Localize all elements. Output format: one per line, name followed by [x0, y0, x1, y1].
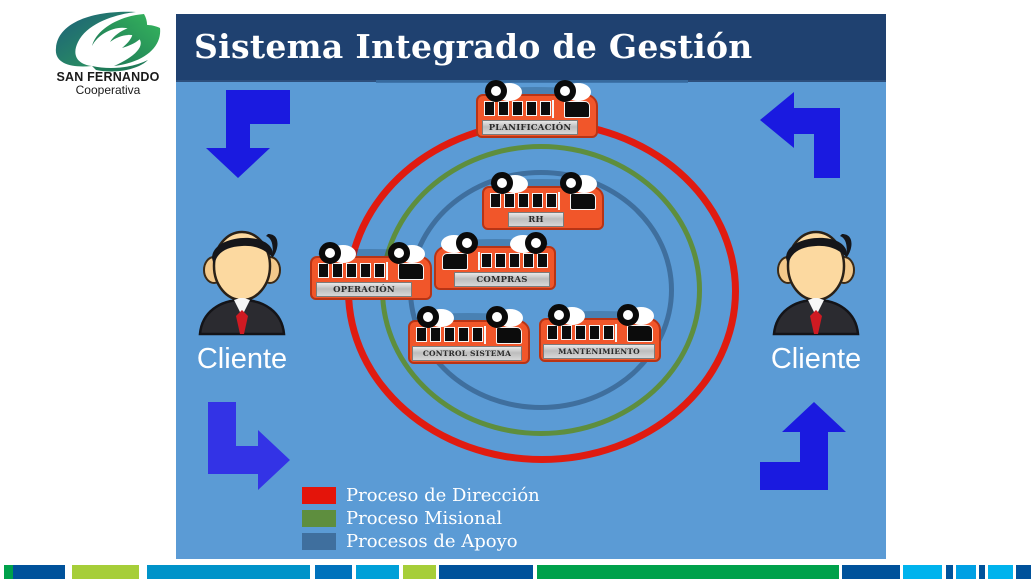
bus-window	[318, 263, 329, 278]
bus-windshield	[442, 253, 468, 270]
bus-window	[495, 253, 506, 268]
bus-window	[332, 263, 343, 278]
bus-windshield	[627, 325, 653, 342]
bus-wheel	[456, 232, 478, 254]
bus-windshield	[564, 101, 590, 118]
strip-segment	[842, 565, 900, 579]
bus-windshield	[398, 263, 424, 280]
bus-door-split	[552, 100, 554, 118]
bus-window	[523, 253, 534, 268]
bus-door-split	[386, 262, 388, 280]
arrow-bottom-left	[198, 402, 294, 503]
bus-window	[540, 101, 551, 116]
legend-swatch-red	[302, 487, 336, 504]
client-right: Cliente	[752, 218, 880, 376]
bus-door-split	[615, 324, 617, 342]
bus-windshield	[496, 327, 522, 344]
san-fernando-swoosh-icon	[48, 8, 168, 74]
strip-segment	[72, 565, 139, 579]
bus-window	[504, 193, 515, 208]
bus-window	[458, 327, 469, 342]
strip-segment	[65, 565, 72, 579]
bus-window	[546, 193, 557, 208]
legend-label: Procesos de Apoyo	[346, 531, 518, 552]
bus-window	[561, 325, 572, 340]
bus-window	[472, 327, 483, 342]
bus-wheel	[388, 242, 410, 264]
logo-name-line2: Cooperativa	[48, 83, 168, 97]
strip-segment	[903, 565, 942, 579]
bus-label: COMPRAS	[454, 272, 550, 287]
page-title: Sistema Integrado de Gestión	[194, 27, 753, 66]
bus-window	[484, 101, 495, 116]
strip-segment	[988, 565, 1012, 579]
legend: Proceso de Dirección Proceso Misional Pr…	[302, 484, 540, 553]
strip-segment	[147, 565, 311, 579]
bus-window	[537, 253, 548, 268]
legend-label: Proceso de Dirección	[346, 485, 540, 506]
bus-door-split	[558, 192, 560, 210]
bus-door-split	[478, 252, 480, 270]
bus-door-split	[484, 326, 486, 344]
bus-window	[374, 263, 385, 278]
bus-label: PLANIFICACIÓN	[482, 120, 578, 135]
bus-wheel	[486, 306, 508, 328]
strip-segment	[439, 565, 533, 579]
bus-wheel	[319, 242, 341, 264]
bus-window	[444, 327, 455, 342]
bus-wheel	[485, 80, 507, 102]
bus-window	[481, 253, 492, 268]
bus-wheel	[417, 306, 439, 328]
bus-window	[547, 325, 558, 340]
client-left: Cliente	[178, 218, 306, 376]
strip-segment	[956, 565, 977, 579]
bus-window	[498, 101, 509, 116]
bus-label: MANTENIMIENTO	[543, 344, 655, 359]
bus-window	[416, 327, 427, 342]
bus-window	[360, 263, 371, 278]
bus-wheel	[617, 304, 639, 326]
legend-item-misional: Proceso Misional	[302, 507, 540, 530]
logo-name-line1: SAN FERNANDO	[48, 70, 168, 84]
strip-segment	[4, 565, 13, 579]
slide: Sistema Integrado de Gestión PLANIFICACI…	[176, 14, 886, 559]
person-icon	[752, 218, 880, 336]
strip-segment	[356, 565, 399, 579]
strip-segment	[13, 565, 64, 579]
arrow-top-right	[756, 86, 852, 187]
bus-window	[589, 325, 600, 340]
client-left-label: Cliente	[178, 343, 306, 376]
bus-window	[603, 325, 614, 340]
arrow-bottom-right	[756, 398, 852, 499]
strip-segment	[315, 565, 352, 579]
bus-wheel	[491, 172, 513, 194]
legend-swatch-blue	[302, 533, 336, 550]
bus-window	[430, 327, 441, 342]
legend-label: Proceso Misional	[346, 508, 502, 529]
client-right-label: Cliente	[752, 343, 880, 376]
strip-segment	[537, 565, 839, 579]
strip-segment	[1016, 565, 1031, 579]
bus-window	[575, 325, 586, 340]
bus-wheel	[560, 172, 582, 194]
bus-window	[509, 253, 520, 268]
bus-windshield	[570, 193, 596, 210]
company-logo: SAN FERNANDO Cooperativa	[48, 8, 168, 98]
legend-item-apoyo: Procesos de Apoyo	[302, 530, 540, 553]
strip-segment	[403, 565, 436, 579]
bus-wheel	[548, 304, 570, 326]
bus-window	[512, 101, 523, 116]
bottom-color-strip	[0, 565, 1035, 579]
legend-swatch-green	[302, 510, 336, 527]
bus-window	[490, 193, 501, 208]
bus-window	[518, 193, 529, 208]
strip-segment	[139, 565, 146, 579]
slide-title-bar: Sistema Integrado de Gestión	[176, 14, 886, 82]
bus-label: OPERACIÓN	[316, 282, 412, 297]
bus-label: CONTROL SISTEMA	[412, 346, 522, 361]
person-icon	[178, 218, 306, 336]
legend-item-direccion: Proceso de Dirección	[302, 484, 540, 507]
diagram-canvas: PLANIFICACIÓN RH	[176, 80, 886, 559]
bus-window	[532, 193, 543, 208]
bus-window	[526, 101, 537, 116]
strip-segment	[1031, 565, 1035, 579]
bus-window	[346, 263, 357, 278]
arrow-top-left	[198, 86, 294, 187]
bus-label: RH	[508, 212, 564, 227]
bus-wheel	[554, 80, 576, 102]
bus-wheel	[525, 232, 547, 254]
